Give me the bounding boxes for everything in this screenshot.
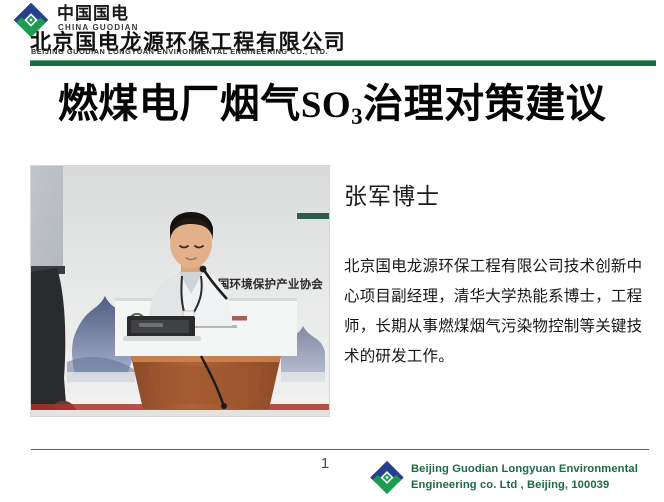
so3-formula: SO3 (301, 85, 363, 126)
slide-title: 燃煤电厂烟气SO3治理对策建议 (0, 79, 664, 135)
slide-header: 中国国电 CHINA GUODIAN 北京国电龙源环保工程有限公司 BEIJIN… (0, 0, 664, 64)
header-divider (30, 60, 656, 66)
title-part-2: 治理对策建议 (363, 82, 606, 126)
presentation-slide: 中国国电 CHINA GUODIAN 北京国电龙源环保工程有限公司 BEIJIN… (0, 0, 664, 502)
footer-line-1: Beijing Guodian Longyuan Environmental (411, 461, 638, 477)
speaker-bio: 北京国电龙源环保工程有限公司技术创新中心项目副经理，清华大学热能系博士，工程师，… (344, 252, 644, 372)
title-part-1: 燃煤电厂烟气 (58, 82, 301, 126)
speaker-photo: 中国环境保护产业协会 (31, 166, 329, 416)
formula-subscript: 3 (351, 104, 363, 129)
page-number: 1 (311, 455, 339, 473)
footer-company-address: Beijing Guodian Longyuan Environmental E… (411, 461, 638, 493)
speaker-name: 张军博士 (344, 181, 440, 211)
footer-line-2: Engineering co. Ltd , Beijing, 100039 (411, 477, 638, 493)
company-name-en: BEIJING GUODIAN LONGYUAN ENVIRONMENTAL E… (31, 48, 328, 56)
brand-name-cn: 中国国电 (57, 4, 129, 23)
footer-divider (31, 449, 649, 450)
footer-guodian-logo-icon (368, 461, 406, 494)
formula-main: SO (301, 85, 351, 126)
